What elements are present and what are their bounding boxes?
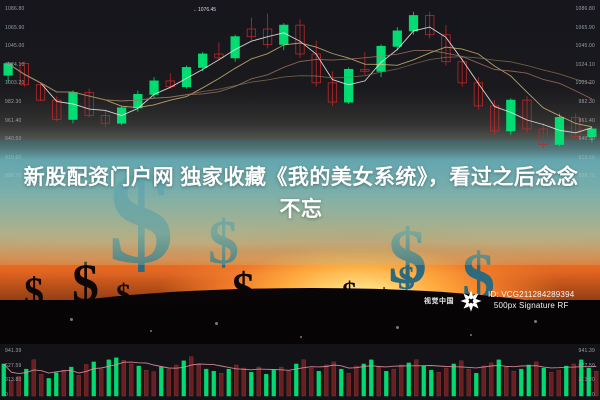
bokeh-dust — [396, 326, 399, 329]
annotation-value: 1076.45 — [198, 7, 216, 13]
volume-chart-svg — [0, 344, 600, 400]
volume-tick-label-left: 0 — [5, 392, 8, 398]
price-tick-label-right: 982.30 — [579, 99, 596, 105]
bokeh-dust — [70, 318, 73, 321]
price-tick-label-right: 1086.80 — [576, 6, 595, 12]
volume-tick-label-left: 941.39 — [5, 348, 22, 354]
price-tick-label-left: 898.70 — [5, 173, 22, 179]
watermark: 视觉中国 ID: VCG211284289394 500px Signature… — [424, 288, 574, 314]
watermark-brand-cn: 视觉中国 — [424, 296, 454, 306]
watermark-text: ID: VCG211284289394 500px Signature RF — [488, 290, 574, 312]
price-tick-label-right: 940.50 — [579, 136, 596, 142]
screenshot-root: $ $ $ $ $ $ $ $ $ $ $ ←1076.45 新股配资门户网 独… — [0, 0, 600, 400]
volume-chart — [0, 344, 600, 400]
bokeh-dust — [300, 336, 302, 338]
price-tick-label-right: 919.60 — [579, 155, 596, 161]
price-tick-label-left: 1024.10 — [5, 62, 24, 68]
price-tick-label-right: 1065.90 — [576, 25, 595, 31]
price-tick-label-right: 1003.20 — [576, 80, 595, 86]
price-tick-label-right: 961.40 — [579, 118, 596, 124]
volume-tick-label-right: 313.80 — [579, 377, 596, 383]
volume-tick-label-right: 0 — [592, 392, 595, 398]
bokeh-dust — [150, 330, 152, 332]
price-tick-label-left: 982.30 — [5, 99, 22, 105]
price-tick-label-right: 1045.00 — [576, 43, 595, 49]
bokeh-dust — [470, 334, 472, 336]
vcg-burst-icon — [458, 288, 484, 314]
volume-tick-label-left: 313.80 — [5, 377, 22, 383]
price-tick-label-left: 961.40 — [5, 118, 22, 124]
bokeh-dust — [534, 320, 537, 323]
price-tick-label-left: 1003.20 — [5, 80, 24, 86]
price-chart-svg — [0, 0, 600, 160]
price-tick-label-right: 898.70 — [579, 173, 596, 179]
watermark-license: 500px Signature RF — [488, 301, 574, 312]
price-peak-annotation: ←1076.45 — [193, 7, 216, 13]
price-tick-label-left: 940.50 — [5, 136, 22, 142]
price-tick-label-left: 919.60 — [5, 155, 22, 161]
price-tick-label-left: 1045.00 — [5, 43, 24, 49]
price-tick-label-left: 1065.90 — [5, 25, 24, 31]
watermark-id: ID: VCG211284289394 — [488, 290, 574, 301]
price-tick-label-left: 1086.80 — [5, 6, 24, 12]
volume-tick-label-right: 627.59 — [579, 363, 596, 369]
price-tick-label-right: 1024.10 — [576, 62, 595, 68]
headline-text: 新股配资门户网 独家收藏《我的美女系统》，看过之后念念不忘 — [18, 162, 584, 226]
volume-tick-label-right: 941.39 — [579, 348, 596, 354]
volume-tick-label-left: 627.59 — [5, 363, 22, 369]
price-candlestick-chart — [0, 0, 600, 160]
bokeh-dust — [215, 322, 218, 325]
